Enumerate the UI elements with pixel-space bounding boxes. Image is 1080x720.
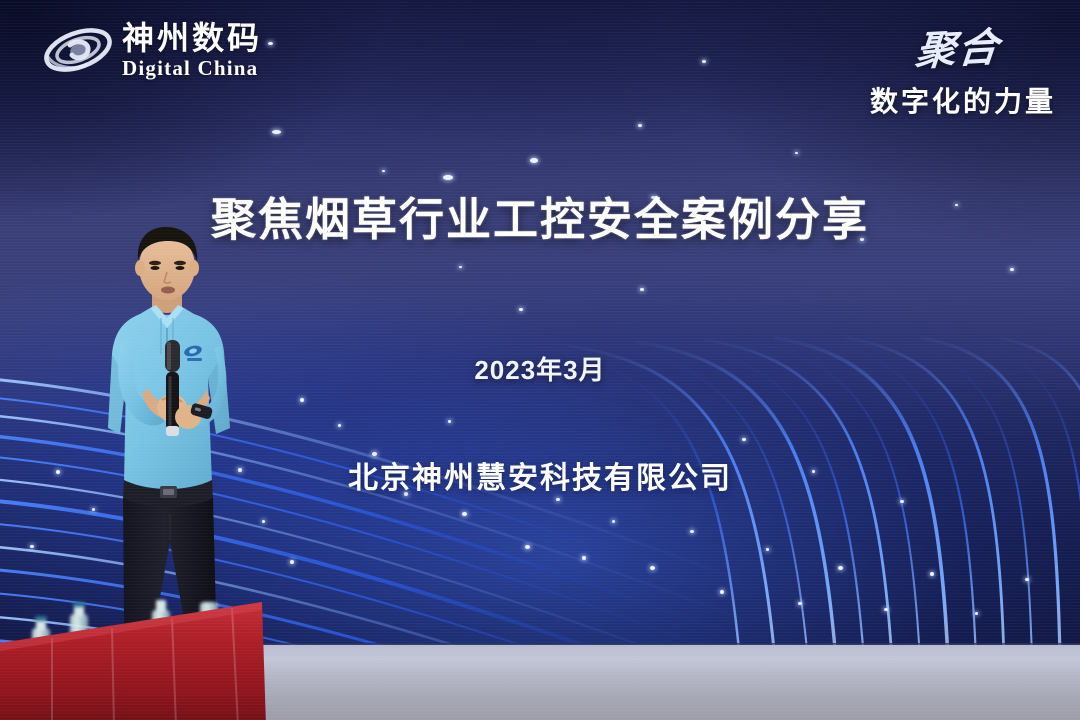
brand-name-en: Digital China — [122, 58, 262, 79]
foreground-table-skirt — [0, 592, 266, 720]
event-slogan: 聚合 数字化的力量 — [870, 18, 1056, 120]
brand-name-cn: 神州数码 — [122, 22, 262, 54]
swirl-galaxy-logo-icon — [40, 19, 116, 81]
brand-logo: 神州数码 Digital China — [40, 19, 262, 81]
slogan-calligraphy: 聚合 — [867, 15, 1003, 80]
speaker-person — [92, 222, 262, 652]
conference-photo: 聚焦烟草行业工控安全案例分享 2023年3月 北京神州慧安科技有限公司 神州数码… — [0, 0, 1080, 720]
slogan-subtitle: 数字化的力量 — [870, 80, 1056, 120]
